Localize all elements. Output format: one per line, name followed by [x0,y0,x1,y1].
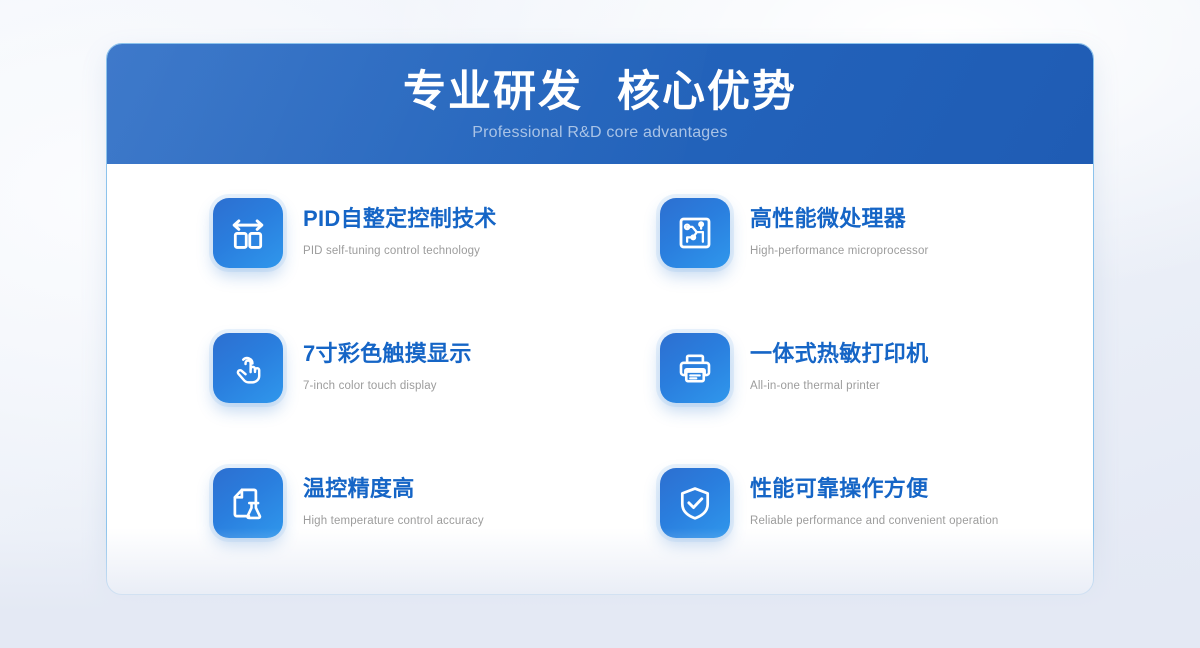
document-flask-icon [213,468,283,538]
shield-check-icon [660,468,730,538]
feature-title: 7寸彩色触摸显示 [303,336,472,368]
feature-text-block: 性能可靠操作方便 Reliable performance and conven… [730,466,998,527]
printer-icon [660,333,730,403]
page-background: 专业研发 核心优势 Professional R&D core advantag… [0,0,1200,648]
feature-text-block: 一体式热敏打印机 All-in-one thermal printer [730,331,928,392]
feature-text-block: 温控精度高 High temperature control accuracy [283,466,484,527]
feature-description: 7-inch color touch display [303,368,472,392]
feature-title: 高性能微处理器 [750,201,929,233]
feature-item-reliable-performance[interactable]: 性能可靠操作方便 Reliable performance and conven… [600,466,1093,595]
feature-grid: PID自整定控制技术 PID self-tuning control techn… [107,164,1093,595]
feature-title: 性能可靠操作方便 [750,471,998,503]
feature-title: 温控精度高 [303,471,484,503]
feature-text-block: 高性能微处理器 High-performance microprocessor [730,196,929,257]
page-title: 专业研发 核心优势 [107,44,1093,117]
card-header-banner: 专业研发 核心优势 Professional R&D core advantag… [107,44,1093,164]
feature-item-thermal-printer[interactable]: 一体式热敏打印机 All-in-one thermal printer [600,331,1093,466]
feature-description: High temperature control accuracy [303,503,484,527]
feature-title: 一体式热敏打印机 [750,336,928,368]
feature-title: PID自整定控制技术 [303,201,497,233]
page-subtitle: Professional R&D core advantages [107,117,1093,142]
feature-item-touch-display[interactable]: 7寸彩色触摸显示 7-inch color touch display [107,331,600,466]
feature-item-pid-self-tuning[interactable]: PID自整定控制技术 PID self-tuning control techn… [107,196,600,331]
feature-description: All-in-one thermal printer [750,368,928,392]
feature-description: Reliable performance and convenient oper… [750,503,998,527]
resize-arrows-bars-icon [213,198,283,268]
microchip-circuit-icon [660,198,730,268]
feature-text-block: PID自整定控制技术 PID self-tuning control techn… [283,196,497,257]
feature-description: High-performance microprocessor [750,233,929,257]
touch-hand-icon [213,333,283,403]
feature-item-temperature-accuracy[interactable]: 温控精度高 High temperature control accuracy [107,466,600,595]
feature-item-microprocessor[interactable]: 高性能微处理器 High-performance microprocessor [600,196,1093,331]
core-advantages-card: 专业研发 核心优势 Professional R&D core advantag… [106,43,1094,595]
feature-description: PID self-tuning control technology [303,233,497,257]
feature-text-block: 7寸彩色触摸显示 7-inch color touch display [283,331,472,392]
